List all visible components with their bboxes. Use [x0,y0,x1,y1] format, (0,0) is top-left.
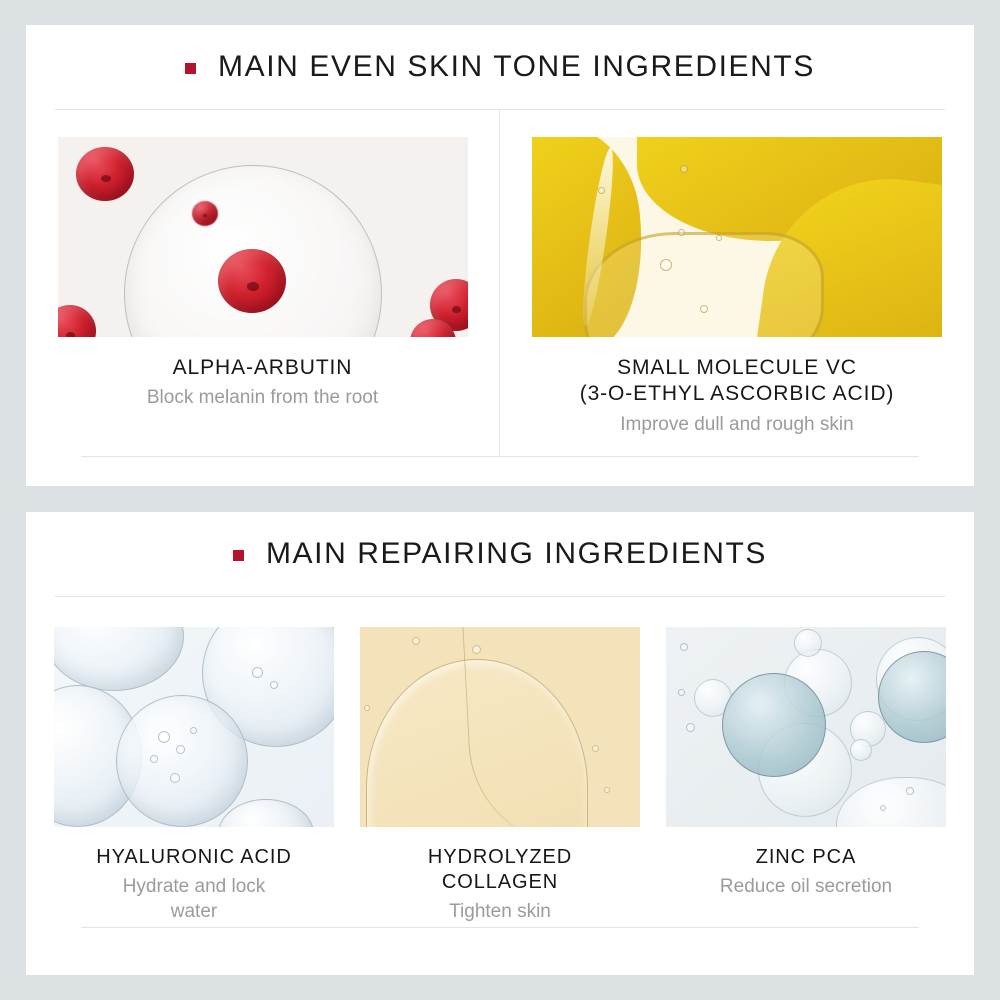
square-bullet-icon [185,63,196,74]
hyaluronic-acid-spheres-photo [54,627,334,827]
section-header-repairing: MAIN REPAIRING INGREDIENTS [26,512,974,596]
ingredient-benefit: Hydrate and lock water [96,875,291,924]
zinc-pca-bubbles-photo [666,627,946,827]
ingredient-card-grid-repairing: HYALURONIC ACID Hydrate and lock water H… [26,597,974,927]
bubble-shape [722,673,826,777]
ingredient-card-hydrolyzed-collagen[interactable]: HYDROLYZED COLLAGEN Tighten skin [360,627,640,927]
square-bullet-icon [233,550,244,561]
bubble-shape [150,755,158,763]
bubble-shape [794,629,822,657]
alpha-arbutin-cherries-photo [58,137,468,337]
bubble-shape [190,727,197,734]
bubble-shape [686,723,695,732]
ingredient-card-grid-even-skin-tone: ALPHA-ARBUTIN Block melanin from the roo… [26,110,974,456]
bubble-shape [850,739,872,761]
bubble-shape [660,259,672,271]
bubble-shape [680,165,688,173]
infographic-page: MAIN EVEN SKIN TONE INGREDIENTS ALPHA-AR… [0,0,1000,1000]
bubble-shape [604,787,610,793]
oil-edge-shape [584,232,824,337]
bubble-shape [270,681,278,689]
ingredient-card-small-molecule-vc[interactable]: SMALL MOLECULE VC (3-O-ETHYL ASCORBIC AC… [500,110,974,456]
caption-alpha-arbutin: ALPHA-ARBUTIN Block melanin from the roo… [137,355,388,411]
bubble-shape [836,777,946,827]
caption-zinc-pca: ZINC PCA Reduce oil secretion [710,845,902,900]
section-title-repairing: MAIN REPAIRING INGREDIENTS [266,537,767,571]
caption-hyaluronic-acid: HYALURONIC ACID Hydrate and lock water [86,845,301,925]
ingredient-name: SMALL MOLECULE VC (3-O-ETHYL ASCORBIC AC… [580,355,895,408]
bubble-shape [176,745,185,754]
ingredient-benefit: Block melanin from the root [147,386,378,411]
ingredient-name: HYDROLYZED COLLAGEN [428,845,572,895]
ingredient-name: ZINC PCA [720,845,892,870]
bubble-shape [906,787,914,795]
ingredient-card-alpha-arbutin[interactable]: ALPHA-ARBUTIN Block melanin from the roo… [26,110,500,456]
ingredient-name: HYALURONIC ACID [96,845,291,870]
ingredient-card-zinc-pca[interactable]: ZINC PCA Reduce oil secretion [666,627,946,927]
section-repairing: MAIN REPAIRING INGREDIENTS [26,512,974,975]
section-title-even-skin-tone: MAIN EVEN SKIN TONE INGREDIENTS [218,50,815,84]
bubble-shape [412,637,420,645]
bubble-shape [252,667,263,678]
bubble-shape [158,731,170,743]
bubble-shape [880,805,886,811]
bubble-shape [170,773,180,783]
ingredient-benefit: Improve dull and rough skin [580,413,895,438]
cherry-shape [192,201,218,226]
section-bottom-divider [81,927,919,928]
sphere-shape [116,695,248,827]
caption-hydrolyzed-collagen: HYDROLYZED COLLAGEN Tighten skin [418,845,582,925]
ingredient-benefit: Reduce oil secretion [720,875,892,900]
ingredient-name: ALPHA-ARBUTIN [147,355,378,381]
cherry-shape [218,249,286,313]
section-header-even-skin-tone: MAIN EVEN SKIN TONE INGREDIENTS [26,25,974,109]
ingredient-card-hyaluronic-acid[interactable]: HYALURONIC ACID Hydrate and lock water [54,627,334,927]
hydrolyzed-collagen-gel-photo [360,627,640,827]
bubble-shape [598,187,605,194]
bubble-shape [364,705,370,711]
sphere-shape [54,627,184,691]
bubble-shape [680,643,688,651]
caption-small-molecule-vc: SMALL MOLECULE VC (3-O-ETHYL ASCORBIC AC… [570,355,905,438]
bubble-shape [472,645,481,654]
gel-streak-shape [462,627,624,827]
section-even-skin-tone: MAIN EVEN SKIN TONE INGREDIENTS ALPHA-AR… [26,25,974,486]
bubble-shape [678,229,685,236]
cherry-shape [58,305,96,337]
bubble-shape [700,305,708,313]
bubble-shape [716,235,722,241]
vitamin-c-oil-photo [532,137,942,337]
ingredient-benefit: Tighten skin [428,900,572,925]
section-bottom-divider [81,456,919,457]
cherry-shape [76,147,134,201]
bubble-shape [592,745,599,752]
bubble-shape [678,689,685,696]
